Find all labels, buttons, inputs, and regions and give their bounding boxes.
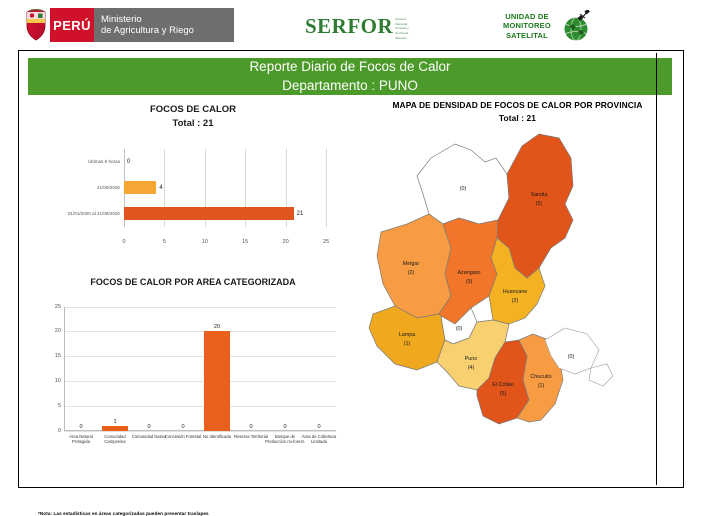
page-title: Reporte Diario de Focos de Calor xyxy=(249,58,450,76)
chart2-y-axis xyxy=(64,307,65,431)
charts-column: FOCOS DE CALOR Total : 21 0510152025Últi… xyxy=(28,99,358,479)
value-huancane: (2) xyxy=(512,298,519,304)
chart2-value-label: 1 xyxy=(113,419,116,425)
chart2-bar-column[interactable]: 0 xyxy=(306,424,332,431)
chart2-value-label: 0 xyxy=(181,424,184,430)
label-huancane: Huancane xyxy=(503,289,528,295)
label-melgar: Melgar xyxy=(403,261,420,267)
chart1-xtick: 10 xyxy=(202,239,208,245)
chart2-bar[interactable] xyxy=(204,331,230,430)
label-azangaro: Azangaro xyxy=(457,270,480,276)
chart2-gridline xyxy=(64,356,336,357)
chart2-bar-column[interactable]: 0 xyxy=(136,424,162,431)
chart1-category-label: Últimas 6 horas xyxy=(88,159,120,164)
peru-label: PERÚ xyxy=(50,8,94,42)
map-column: MAPA DE DENSIDAD DE FOCOS DE CALOR POR P… xyxy=(359,99,676,481)
value-yunguyo: (0) xyxy=(568,354,575,360)
focos-por-area-categorizada-chart: 05101520250Área Natural Protegida1Comuni… xyxy=(28,293,354,478)
report-page: PERÚ Ministerio de Agricultura y Riego S… xyxy=(0,0,702,496)
map-heading: MAPA DE DENSIDAD DE FOCOS DE CALOR POR P… xyxy=(359,99,676,124)
value-sandia: (5) xyxy=(536,201,543,207)
footnote: *Nota: Las estadísticas en áreas categor… xyxy=(38,511,209,516)
satellite-globe-icon xyxy=(557,10,591,42)
chart2-bar-column[interactable]: 0 xyxy=(272,424,298,431)
chart1-value-label: 4 xyxy=(159,185,162,191)
chart2-ytick: 25 xyxy=(55,304,61,310)
chart2-gridline xyxy=(64,406,336,407)
chart1-xtick: 15 xyxy=(242,239,248,245)
chart1-xtick: 5 xyxy=(163,239,166,245)
ministry-logo: PERÚ Ministerio de Agricultura y Riego xyxy=(22,8,234,42)
chart1-heading: FOCOS DE CALOR Total : 21 xyxy=(28,103,358,131)
chart1-bar-row[interactable]: Últimas 6 horas0 xyxy=(124,149,326,175)
chart2-ytick: 15 xyxy=(55,353,61,359)
value-melgar: (2) xyxy=(408,270,415,276)
label-chucuito: Chucuito xyxy=(530,374,551,380)
value-chucuito: (1) xyxy=(538,383,545,389)
chart2-gridline xyxy=(64,307,336,308)
report-frame: Reporte Diario de Focos de Calor Departa… xyxy=(18,50,684,488)
chart2-value-label: 20 xyxy=(214,324,220,330)
ums-line-3: SATELITAL xyxy=(503,31,551,40)
serfor-subtext: Servicio Nacional Forestal y de Fauna Si… xyxy=(395,17,409,40)
chart2-category-label: Área de Cobertura Limitada xyxy=(299,434,339,445)
ministry-line-1: Ministerio xyxy=(101,14,234,25)
serfor-logo: SERFOR Servicio Nacional Forestal y de F… xyxy=(305,16,409,40)
chart2-title: FOCOS DE CALOR POR AREA CATEGORIZADA xyxy=(28,277,358,287)
chart2-plot-area: 05101520250Área Natural Protegida1Comuni… xyxy=(64,307,336,431)
chart1-xtick: 20 xyxy=(282,239,288,245)
value-lampa: (1) xyxy=(404,341,411,347)
province-lampa[interactable] xyxy=(369,306,445,370)
chart2-value-label: 0 xyxy=(249,424,252,430)
chart1-value-label: 0 xyxy=(127,159,130,165)
chart2-gridline xyxy=(64,331,336,332)
chart1-bar-row[interactable]: 01/01/2020 al 21/09/202021 xyxy=(124,201,326,227)
peru-coat-of-arms-icon xyxy=(22,8,50,42)
chart1-plot-area: 0510152025Últimas 6 horas021/09/2020401/… xyxy=(124,149,326,227)
ums-line-1: UNIDAD DE xyxy=(503,12,551,21)
report-title-bar: Reporte Diario de Focos de Calor Departa… xyxy=(28,58,672,95)
chart1-gridline xyxy=(326,149,327,227)
chart2-ytick: 10 xyxy=(55,378,61,384)
chart2-value-label: 0 xyxy=(283,424,286,430)
chart1-category-label: 01/01/2020 al 21/09/2020 xyxy=(68,211,120,216)
value-san-roman: (0) xyxy=(456,326,463,332)
header-logos: PERÚ Ministerio de Agricultura y Riego S… xyxy=(0,0,702,46)
chart1-xtick: 0 xyxy=(122,239,125,245)
ums-text: UNIDAD DE MONITOREO SATELITAL xyxy=(503,12,551,40)
chart2-value-label: 0 xyxy=(317,424,320,430)
map-total: Total : 21 xyxy=(359,112,676,125)
value-puno: (4) xyxy=(468,365,475,371)
serfor-wordmark: SERFOR xyxy=(305,16,393,37)
page-subtitle: Departamento : PUNO xyxy=(282,77,418,95)
chart1-bar-row[interactable]: 21/09/20204 xyxy=(124,175,326,201)
province-carabaya[interactable] xyxy=(417,144,509,224)
label-el-collao: El Collao xyxy=(492,382,514,388)
value-azangaro: (3) xyxy=(466,279,473,285)
satellite-monitoring-unit-logo: UNIDAD DE MONITOREO SATELITAL xyxy=(503,10,591,42)
chart1-subtitle: Total : 21 xyxy=(28,117,358,131)
serfor-sub-5: Silvestre xyxy=(395,36,409,41)
chart2-bar[interactable] xyxy=(102,426,128,431)
ministry-name: Ministerio de Agricultura y Riego xyxy=(94,8,234,42)
chart2-bar-column[interactable]: 0 xyxy=(68,424,94,431)
chart1-bar[interactable] xyxy=(124,207,294,220)
chart2-ytick: 20 xyxy=(55,328,61,334)
map-east-tip xyxy=(589,364,613,386)
chart1-xtick: 25 xyxy=(323,239,329,245)
chart2-bar-column[interactable]: 1 xyxy=(102,419,128,431)
chart1-title: FOCOS DE CALOR xyxy=(28,103,358,117)
chart1-bar[interactable] xyxy=(124,181,156,194)
chart2-value-label: 0 xyxy=(147,424,150,430)
chart1-value-label: 21 xyxy=(297,211,304,217)
chart2-bar-column[interactable]: 0 xyxy=(238,424,264,431)
chart2-bar-column[interactable]: 0 xyxy=(170,424,196,431)
focos-de-calor-bar-chart: 0510152025Últimas 6 horas021/09/2020401/… xyxy=(28,141,358,259)
map-svg: Sandia (5) Melgar (2) Azangaro (3) Huanc… xyxy=(359,128,676,458)
value-carabaya: (0) xyxy=(460,186,467,192)
label-puno: Puno xyxy=(465,356,478,362)
ministry-line-2: de Agricultura y Riego xyxy=(101,25,234,36)
chart1-category-label: 21/09/2020 xyxy=(97,185,120,190)
chart2-ytick: 5 xyxy=(58,403,61,409)
chart2-gridline xyxy=(64,381,336,382)
map-title: MAPA DE DENSIDAD DE FOCOS DE CALOR POR P… xyxy=(359,99,676,112)
chart2-value-label: 0 xyxy=(79,424,82,430)
column-divider xyxy=(656,53,657,485)
label-lampa: Lampa xyxy=(399,332,415,338)
chart2-bar-column[interactable]: 20 xyxy=(204,324,230,430)
ums-line-2: MONITOREO xyxy=(503,21,551,30)
value-el-collao: (5) xyxy=(500,391,507,397)
chart2-gridline xyxy=(64,431,336,432)
label-sandia: Sandia xyxy=(531,192,548,198)
puno-density-map: Sandia (5) Melgar (2) Azangaro (3) Huanc… xyxy=(359,128,676,458)
